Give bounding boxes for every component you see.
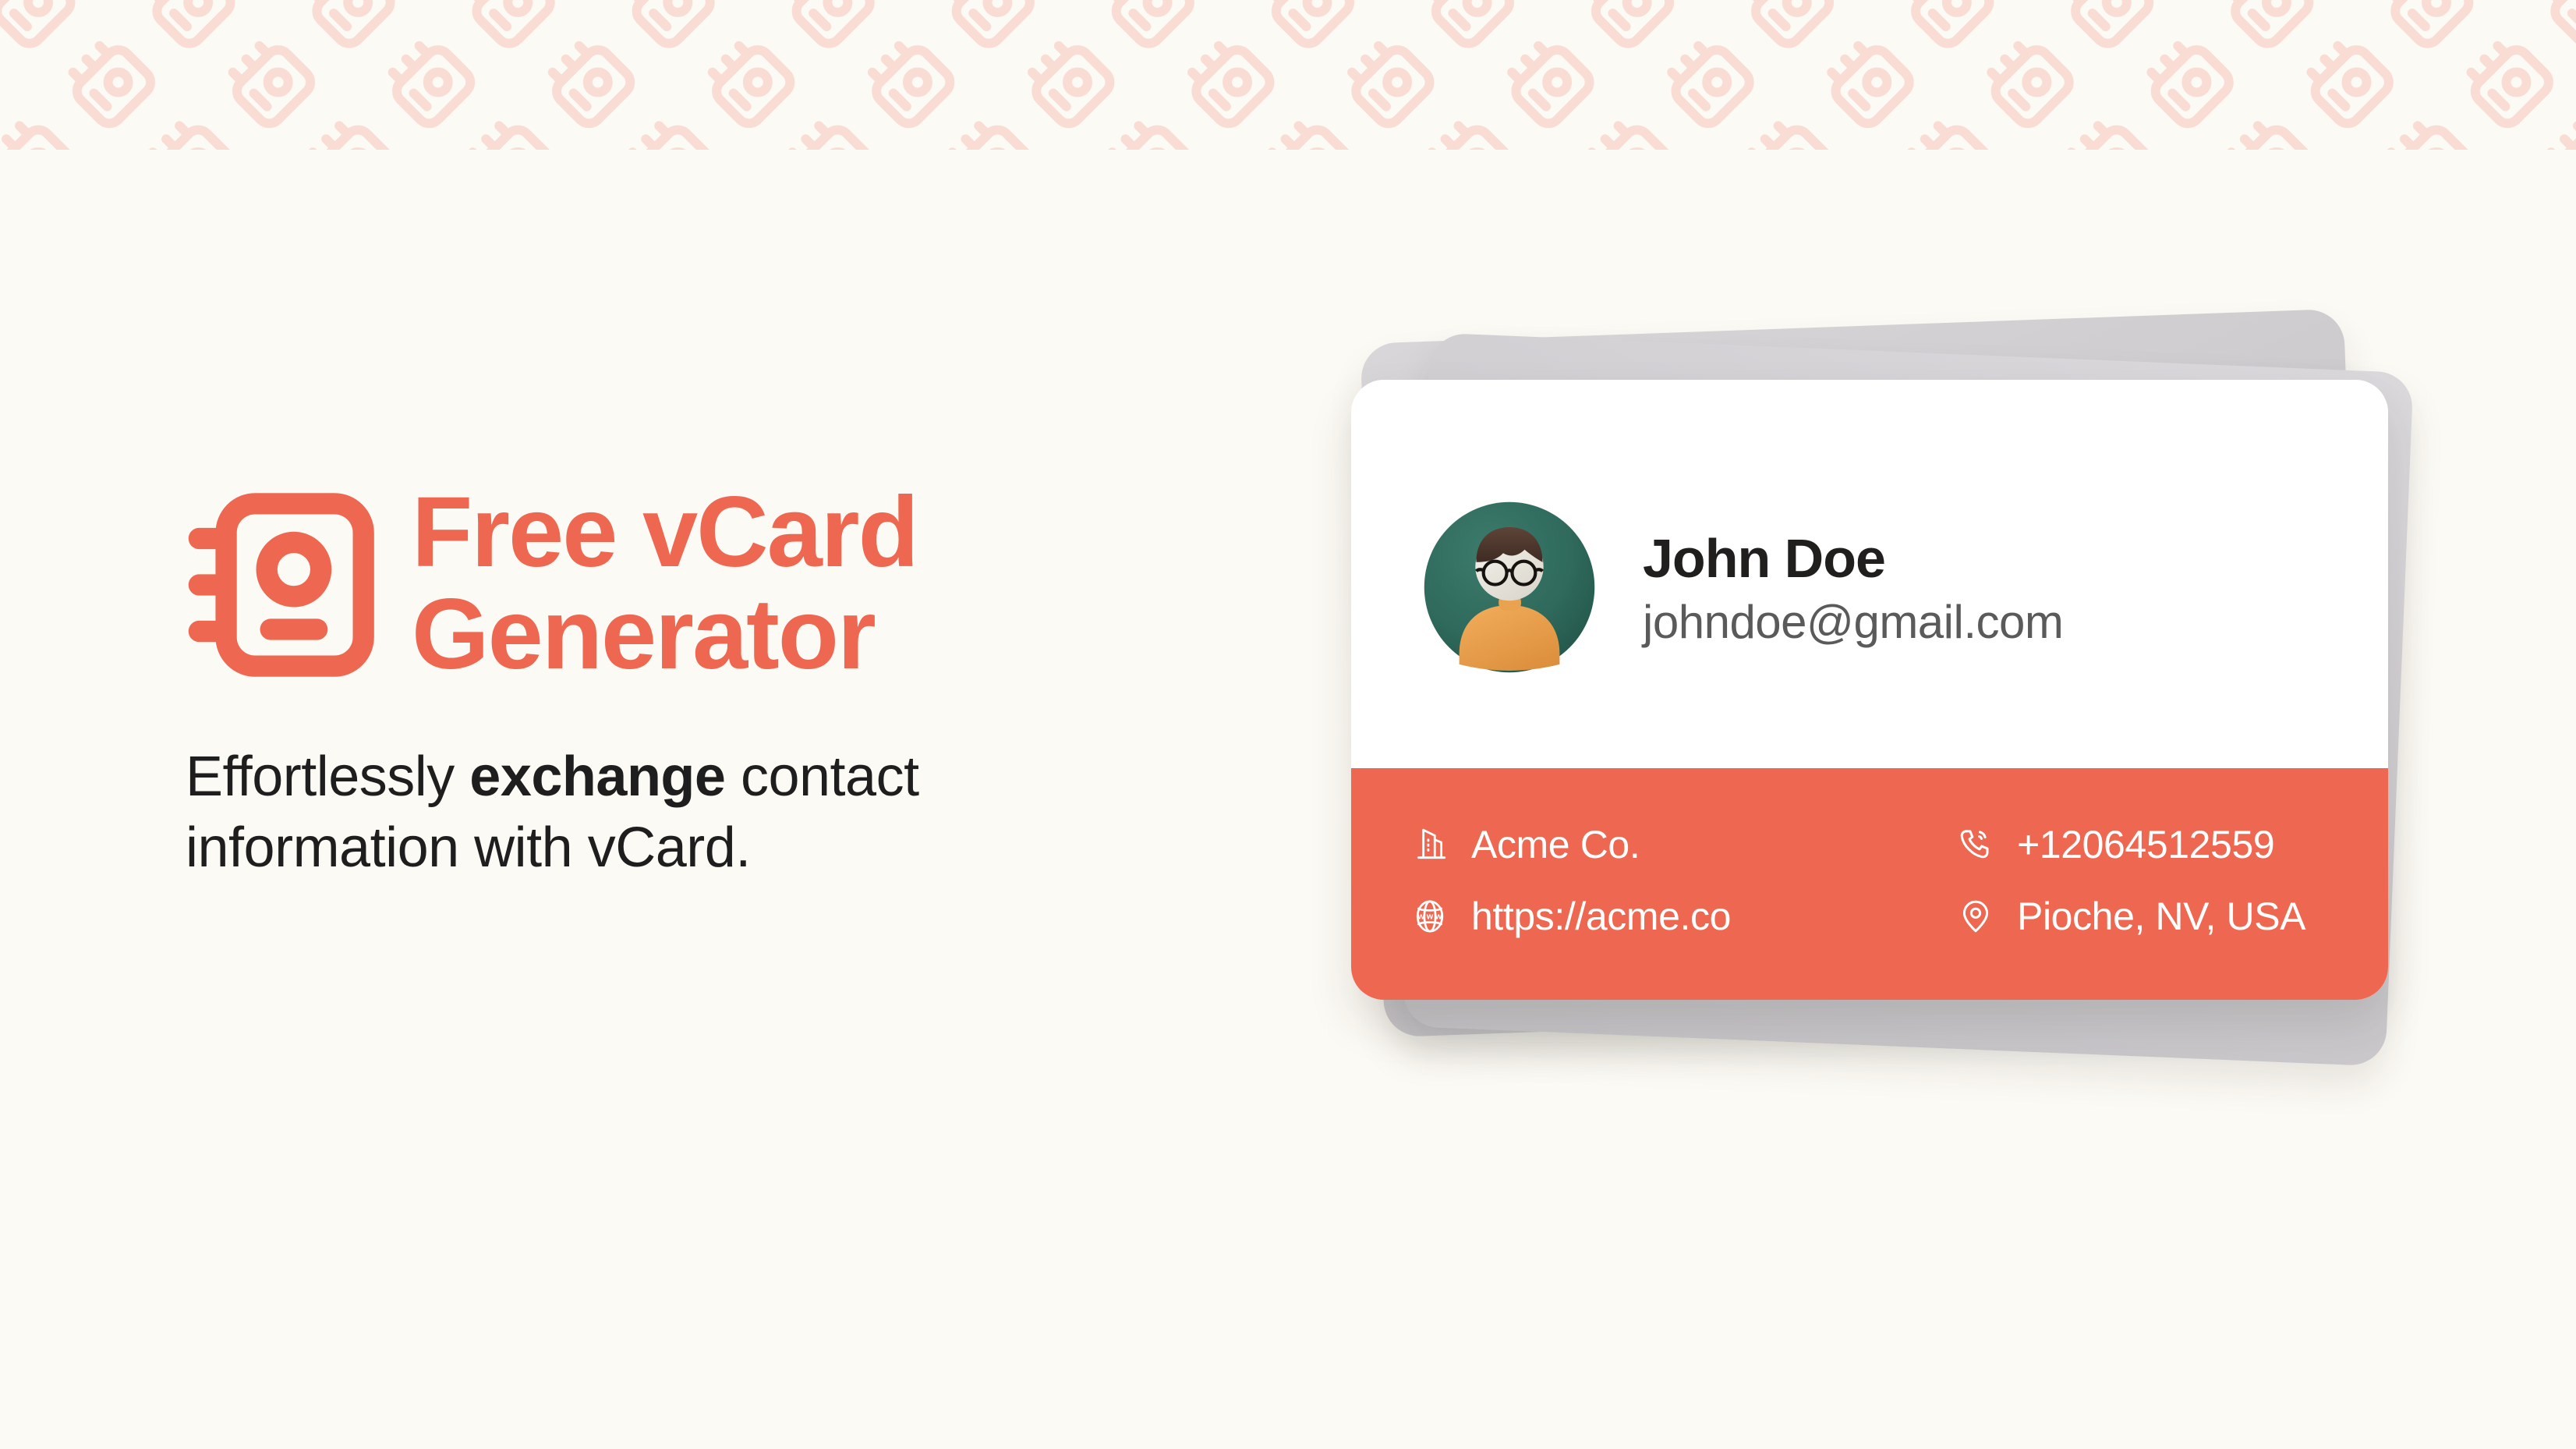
hero-banner: Free vCard Generator Effortlessly exchan…: [0, 0, 2576, 1449]
subtitle-emphasis: exchange: [469, 746, 725, 808]
detail-website: w w w https://acme.co: [1410, 880, 1956, 952]
map-pin-icon: [1956, 897, 1995, 936]
contact-email: johndoe@gmail.com: [1643, 593, 2063, 651]
detail-value: +12064512559: [2017, 825, 2274, 864]
globe-www-icon: w w w: [1410, 897, 1449, 936]
vcard-preview-stack: John Doe johndoe@gmail.com: [1316, 312, 2423, 1115]
vcard-front: John Doe johndoe@gmail.com: [1351, 380, 2388, 1000]
vcard-identity: John Doe johndoe@gmail.com: [1643, 528, 2063, 650]
hero-copy: Free vCard Generator Effortlessly exchan…: [186, 477, 1199, 884]
contact-name: John Doe: [1643, 528, 2063, 589]
svg-text:w: w: [1417, 912, 1425, 921]
detail-value: Pioche, NV, USA: [2017, 897, 2305, 936]
detail-value: https://acme.co: [1471, 897, 1731, 936]
vcard-header: John Doe johndoe@gmail.com: [1351, 380, 2388, 768]
page-title: Free vCard Generator: [412, 477, 918, 686]
subtitle-prefix: Effortlessly: [186, 746, 469, 808]
contact-book-icon: [186, 488, 379, 682]
building-icon: [1410, 825, 1449, 864]
page-subtitle: Effortlessly exchange contact informatio…: [186, 742, 1121, 883]
detail-location: Pioche, NV, USA: [1956, 880, 2334, 952]
svg-text:w: w: [1426, 912, 1434, 921]
detail-company: Acme Co.: [1410, 809, 1956, 880]
phone-icon: [1956, 825, 1995, 864]
vcard-details: Acme Co. +12064512559: [1351, 768, 2388, 1000]
detail-value: Acme Co.: [1471, 825, 1640, 864]
svg-text:w: w: [1435, 912, 1442, 921]
decorative-pattern-band: [0, 0, 2576, 150]
avatar: [1420, 498, 1599, 677]
detail-phone: +12064512559: [1956, 809, 2334, 880]
